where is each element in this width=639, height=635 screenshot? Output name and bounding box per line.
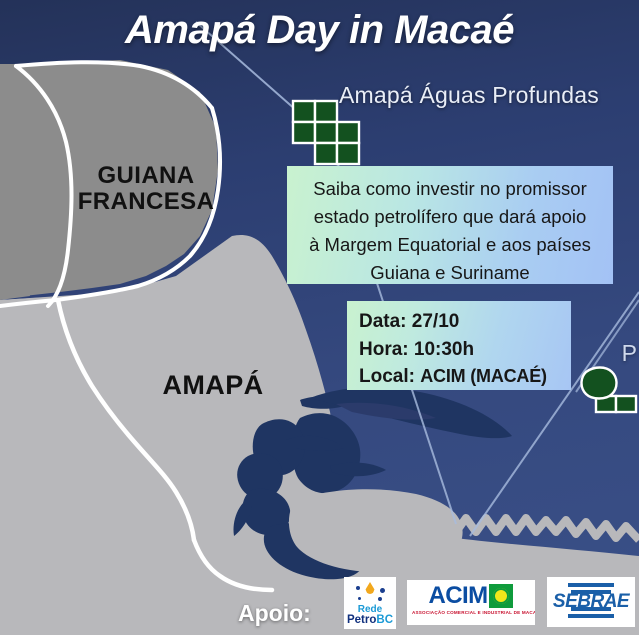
sponsor-logo-acim[interactable]: ACIM ASSOCIAÇÃO COMERCIAL E INDUSTRIAL D… (407, 580, 535, 625)
oil-drop-icon (366, 582, 375, 594)
map-label-guiana-francesa: GUIANA FRANCESA (58, 163, 234, 215)
map-label-amapa: AMAPÁ (128, 371, 298, 400)
page-title: Amapá Day in Macaé (0, 8, 639, 53)
detail-row-date: Data: 27/10 (359, 308, 571, 336)
dot-icon (378, 597, 382, 601)
exploration-field-blob (582, 368, 617, 399)
rede-petro-bc: BC (376, 614, 393, 626)
detail-row-time: Hora: 10:30h (359, 336, 571, 364)
sponsor-logo-rede-petro-bc[interactable]: Rede PetroBC (344, 577, 396, 629)
blocks-caption: Amapá Águas Profundas (339, 82, 599, 109)
acim-wordmark: ACIM (429, 584, 488, 608)
dot-icon (380, 588, 385, 593)
sebrae-bar (568, 583, 614, 587)
exploration-blocks-left (293, 101, 359, 164)
event-details-panel: Data: 27/10 Hora: 10:30h Local: ACIM (MA… (347, 301, 571, 390)
detail-label-time: Hora: (359, 339, 409, 360)
about-line-4: Guiana e Suriname (297, 259, 603, 287)
detail-value-location: ACIM (MACAÉ) (420, 366, 547, 386)
dot-icon (358, 597, 361, 600)
about-line-1: Saiba como investir no promissor (297, 175, 603, 203)
detail-value-date: 27/10 (412, 311, 460, 332)
detail-label-date: Data: (359, 311, 407, 332)
sebrae-bar (571, 607, 611, 611)
about-line-2: estado petrolífero que dará apoio (297, 203, 603, 231)
sebrae-bar (568, 614, 614, 618)
apoio-label: Apoio: (238, 600, 311, 627)
about-panel: Saiba como investir no promissor estado … (287, 166, 613, 284)
acim-square-icon (489, 584, 513, 608)
detail-value-time: 10:30h (414, 339, 474, 360)
about-line-3: à Margem Equatorial e aos países (297, 231, 603, 259)
acim-subtitle: ASSOCIAÇÃO COMERCIAL E INDUSTRIAL DE MAC… (412, 610, 530, 615)
sponsor-name-rede-petro-bc: Rede PetroBC (344, 605, 396, 627)
map-label-para-partial: P (622, 340, 637, 367)
acim-wordmark-row: ACIM (412, 584, 530, 608)
rede-petro-petro: Petro (347, 614, 376, 626)
dot-icon (356, 586, 360, 590)
detail-label-location: Local: (359, 366, 415, 387)
acim-circle-icon (493, 588, 509, 604)
map-label-guiana-line1: GUIANA (58, 163, 234, 189)
detail-row-location: Local: ACIM (MACAÉ) (359, 363, 571, 391)
map-label-guiana-line2: FRANCESA (58, 189, 234, 215)
event-poster: Amapá Day in Macaé Amapá Águas Profundas… (0, 0, 639, 635)
rede-petro-line2: PetroBC (344, 615, 396, 627)
sponsor-logo-sebrae[interactable]: SEBRAE (547, 577, 635, 627)
sebrae-bars-bottom-icon (568, 607, 614, 621)
